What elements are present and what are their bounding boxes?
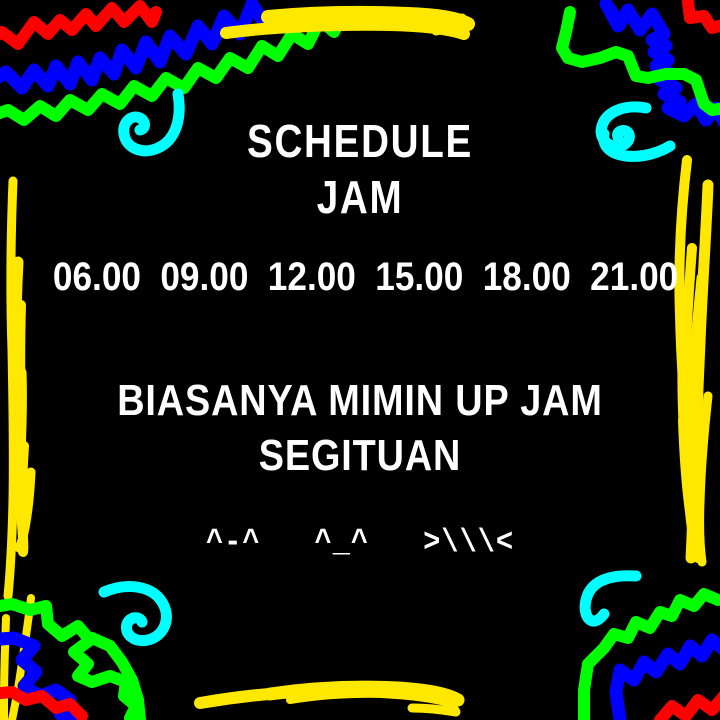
page-title-line1: SCHEDULE [58, 118, 663, 164]
kaomoji-1: ^_^ [315, 527, 370, 559]
schedule-time-2: 12.00 [268, 257, 356, 297]
kaomoji-0: ^-^ [206, 527, 261, 559]
text-content-layer: SCHEDULE JAM 06.0009.0012.0015.0018.0021… [0, 0, 720, 720]
kaomoji-2: >\\\< [423, 527, 514, 559]
page-title-line2: JAM [58, 174, 663, 220]
schedule-time-5: 21.00 [590, 257, 678, 297]
poster-canvas: SCHEDULE JAM 06.0009.0012.0015.0018.0021… [0, 0, 720, 720]
schedule-time-3: 15.00 [375, 257, 463, 297]
schedule-time-1: 09.00 [160, 257, 248, 297]
caption-line2: SEGITUAN [50, 434, 669, 478]
schedule-time-0: 06.00 [53, 257, 141, 297]
schedule-times-row: 06.0009.0012.0015.0018.0021.00 [43, 257, 677, 297]
kaomoji-row: ^-^^_^>\\\< [36, 527, 684, 559]
schedule-time-4: 18.00 [483, 257, 571, 297]
caption-line1: BIASANYA MIMIN UP JAM [50, 379, 669, 423]
